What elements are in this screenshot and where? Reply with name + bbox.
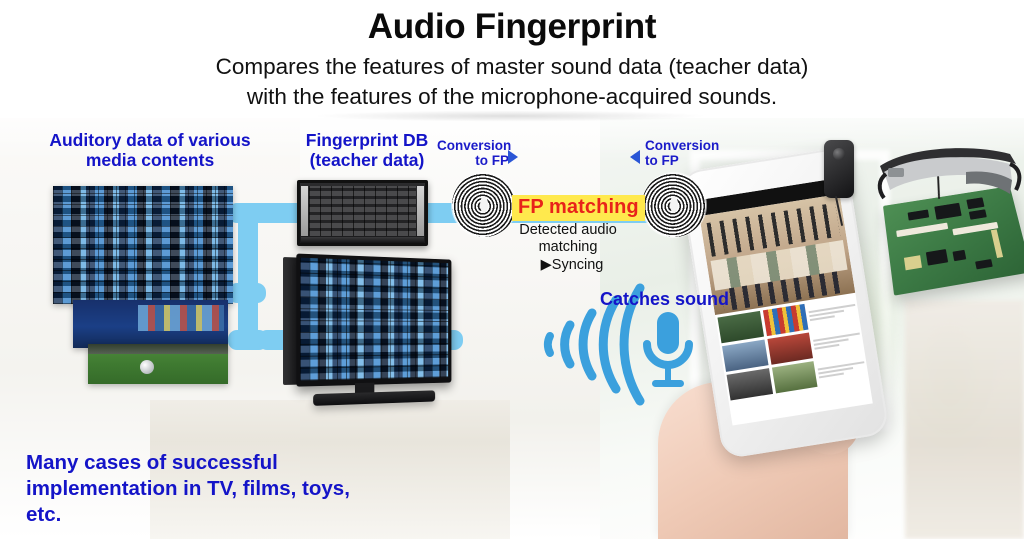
pcb-connector — [896, 223, 948, 238]
label-auditory-data: Auditory data of various media contents — [22, 131, 278, 170]
media-content-wall — [53, 186, 233, 304]
video-thumbnail — [772, 361, 818, 393]
fp-matching-badge: FP matching — [512, 195, 645, 221]
label-catches-sound: Catches sound — [600, 289, 729, 310]
detected-line-3: ▶Syncing — [498, 257, 638, 274]
fp-matching-label: FP matching — [518, 196, 639, 218]
detected-line-2: matching — [498, 239, 638, 256]
pcb-chip — [975, 259, 993, 269]
diagram-canvas: Audio Fingerprint Compares the features … — [0, 0, 1024, 539]
subtitle-line-2: with the features of the microphone-acqu… — [0, 82, 1024, 112]
label-auditory-data-line-1: Auditory data of various — [22, 131, 278, 151]
pipe-segment-vertical-left — [238, 203, 258, 349]
smart-glasses — [870, 142, 1024, 204]
label-auditory-data-line-2: media contents — [22, 151, 278, 171]
tv-screen-mosaic — [300, 258, 448, 381]
label-conversion-to-fp-left: Conversion to FP — [437, 138, 509, 168]
pcb-chip — [908, 209, 930, 220]
microphone-icon — [639, 310, 697, 394]
detected-audio-note: Detected audio matching ▶Syncing — [498, 222, 638, 274]
page-subtitle: Compares the features of master sound da… — [0, 52, 1024, 111]
pcb-chip — [926, 249, 948, 266]
many-cases-line-2: implementation in TV, films, toys, — [26, 476, 446, 502]
pcb-chip — [969, 209, 987, 219]
pcb-chip — [934, 203, 961, 220]
smart-glasses-controller — [824, 140, 854, 198]
arrow-left-icon — [630, 150, 640, 164]
server-base — [301, 237, 424, 243]
arrow-right-icon — [508, 150, 518, 164]
conversion-right-line-2: to FP — [645, 153, 723, 168]
media-sports-strip — [88, 344, 228, 384]
pipe-segment-left-mid — [228, 283, 266, 303]
label-conversion-to-fp-right: Conversion to FP — [645, 138, 723, 168]
conversion-left-line-2: to FP — [437, 153, 509, 168]
label-many-cases: Many cases of successful implementation … — [26, 450, 446, 527]
server-ear-left — [301, 186, 308, 236]
pcb-pad — [991, 229, 1003, 258]
tv-stand — [313, 390, 435, 406]
page-title: Audio Fingerprint — [0, 9, 1024, 44]
pcb-pad — [904, 255, 922, 270]
conversion-right-line-1: Conversion — [645, 138, 723, 153]
label-fingerprint-db-line-2: (teacher data) — [282, 151, 452, 171]
media-display-strip — [73, 300, 228, 348]
tv-bezel — [296, 254, 451, 387]
background-sofa — [905, 300, 1024, 539]
subtitle-line-1: Compares the features of master sound da… — [0, 52, 1024, 82]
header: Audio Fingerprint Compares the features … — [0, 0, 1024, 111]
video-thumbnail — [727, 368, 773, 400]
many-cases-line-3: etc. — [26, 502, 446, 528]
label-fingerprint-db-line-1: Fingerprint DB — [282, 131, 452, 151]
server-drive-bays — [309, 186, 416, 236]
conversion-left-line-1: Conversion — [437, 138, 509, 153]
fingerprint-icon-right — [642, 173, 706, 237]
server-rack — [297, 180, 428, 246]
many-cases-line-1: Many cases of successful — [26, 450, 446, 476]
video-meta — [817, 353, 867, 386]
detected-line-1: Detected audio — [498, 222, 638, 239]
pcb-chip — [952, 250, 966, 261]
television — [283, 253, 451, 413]
server-ear-right — [417, 186, 424, 236]
label-fingerprint-db: Fingerprint DB (teacher data) — [282, 131, 452, 170]
